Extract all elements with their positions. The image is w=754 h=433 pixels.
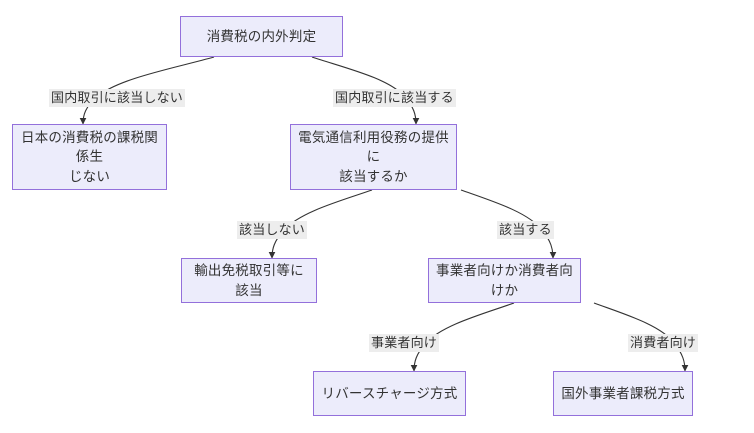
edge-label-not-domestic-transaction: 国内取引に該当しない: [49, 89, 185, 107]
node-b2b-or-b2c[interactable]: 事業者向けか消費者向けか: [428, 258, 581, 303]
node-export-exempt[interactable]: 輸出免税取引等に該当: [181, 258, 317, 303]
edge-label-for-business: 事業者向け: [369, 334, 439, 352]
node-no-domestic[interactable]: 日本の消費税の課税関係生 じない: [12, 124, 167, 190]
node-foreign-tax[interactable]: 国外事業者課税方式: [553, 371, 693, 416]
flowchart-canvas: 消費税の内外判定 日本の消費税の課税関係生 じない 電気通信利用役務の提供に 該…: [0, 0, 754, 433]
edge-label-telecom-no: 該当しない: [237, 221, 307, 239]
node-telecom-check[interactable]: 電気通信利用役務の提供に 該当するか: [290, 124, 457, 190]
node-root[interactable]: 消費税の内外判定: [180, 16, 343, 57]
edge-label-is-domestic-transaction: 国内取引に該当する: [333, 89, 456, 107]
edge-label-telecom-yes: 該当する: [497, 221, 554, 239]
edge-label-for-consumer: 消費者向け: [628, 334, 698, 352]
node-reverse-charge[interactable]: リバースチャージ方式: [313, 371, 466, 416]
flowchart-edge-layer: [0, 0, 754, 433]
